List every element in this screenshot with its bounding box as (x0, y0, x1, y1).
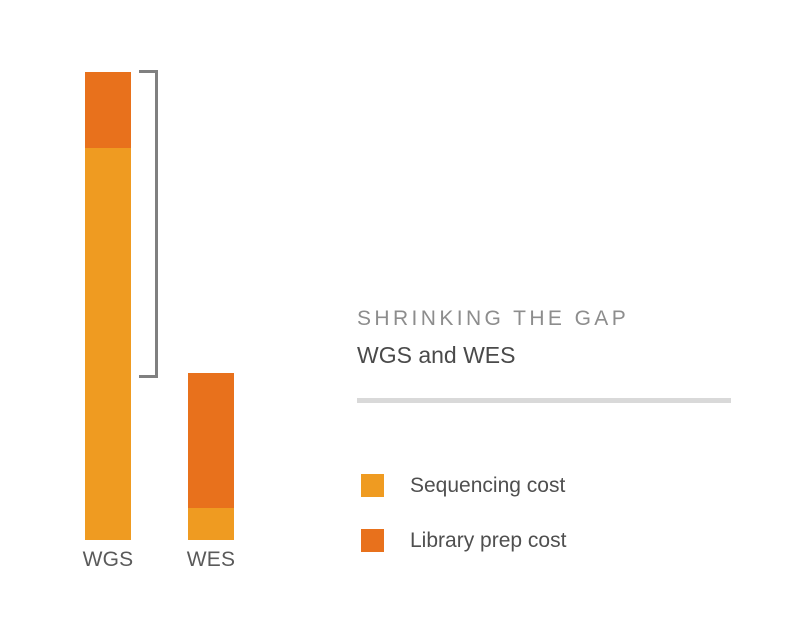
bar-wes-library-prep-segment[interactable] (188, 373, 234, 508)
bar-wes-sequencing-segment[interactable] (188, 508, 234, 540)
plot-area: WGS WES (0, 0, 340, 640)
chart-title: SHRINKING THE GAP (357, 305, 757, 333)
axis-label-wgs: WGS (48, 548, 168, 572)
chart-canvas: WGS WES SHRINKING THE GAP WGS and WES Se… (0, 0, 800, 640)
bar-wgs-library-prep-segment[interactable] (85, 72, 131, 148)
info-panel: SHRINKING THE GAP WGS and WES (357, 305, 757, 369)
chart-legend: Sequencing cost Library prep cost (361, 458, 566, 568)
chart-subtitle: WGS and WES (357, 341, 757, 369)
bracket-bottom-tick (139, 375, 158, 378)
legend-label-library-prep-cost: Library prep cost (410, 529, 566, 553)
legend-label-sequencing-cost: Sequencing cost (410, 474, 565, 498)
legend-swatch-library-prep-cost (361, 529, 384, 552)
wgs-span-bracket-icon (138, 70, 158, 378)
legend-item-library-prep-cost[interactable]: Library prep cost (361, 513, 566, 568)
bar-wgs-sequencing-segment[interactable] (85, 148, 131, 540)
bracket-vertical-line (155, 70, 158, 378)
legend-item-sequencing-cost[interactable]: Sequencing cost (361, 458, 566, 513)
panel-divider (357, 398, 731, 403)
axis-label-wes: WES (151, 548, 271, 572)
legend-swatch-sequencing-cost (361, 474, 384, 497)
